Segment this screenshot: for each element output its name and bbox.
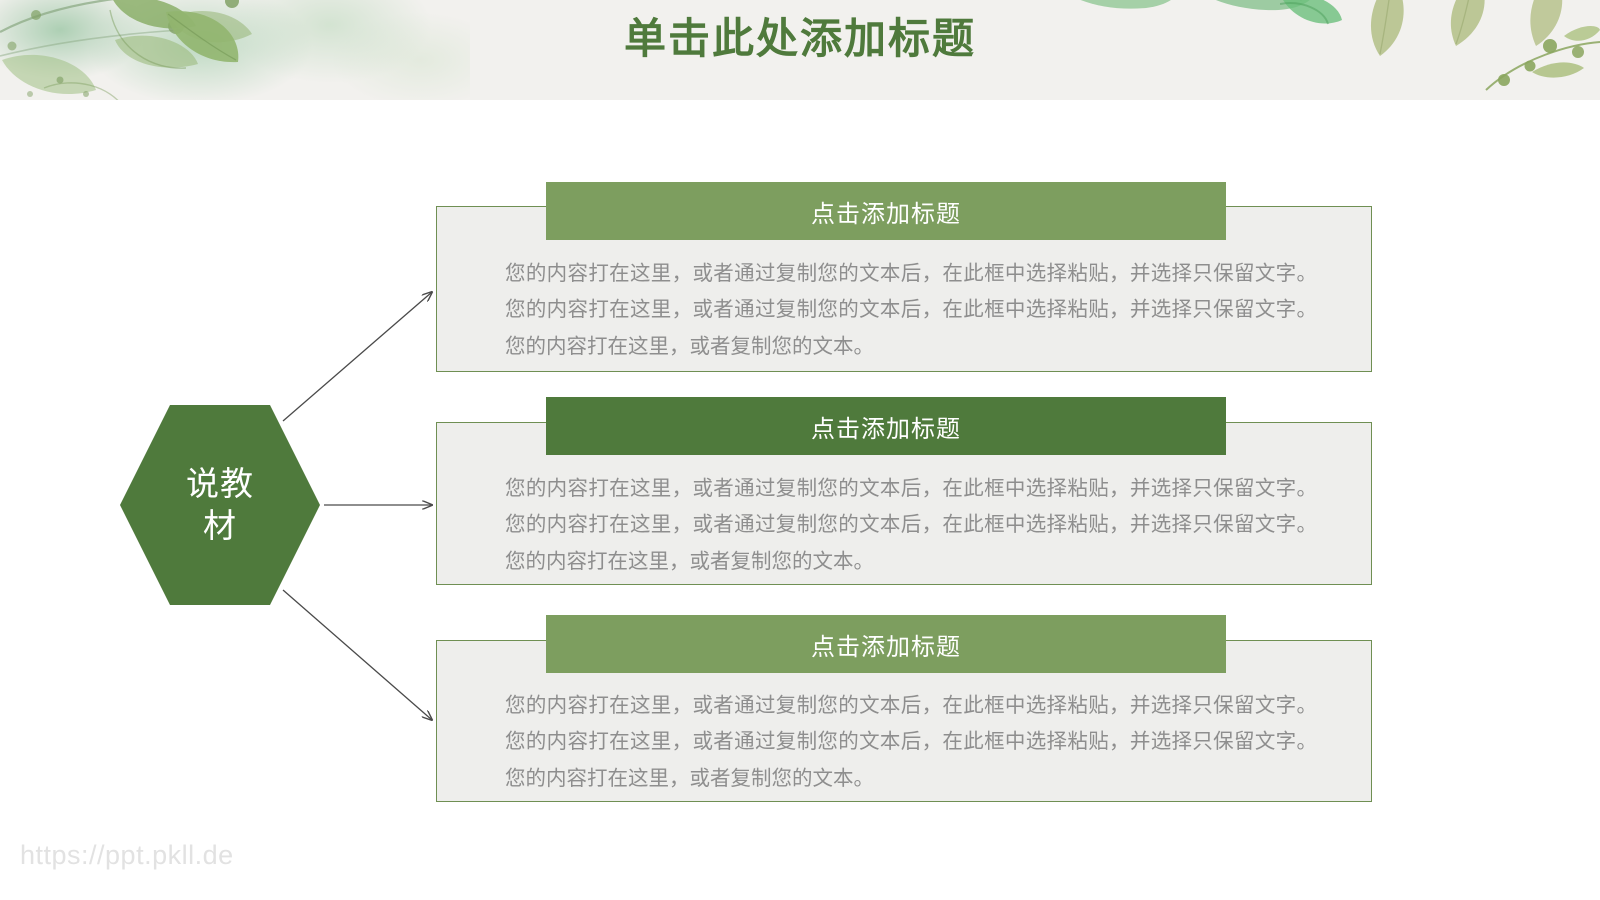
card-body-2: 您的内容打在这里，或者通过复制您的文本后，在此框中选择粘贴，并选择只保留文字。您… xyxy=(505,471,1317,580)
card-header-label-2: 点击添加标题 xyxy=(811,409,961,444)
card-header-3[interactable]: 点击添加标题 xyxy=(546,615,1226,673)
watermark: https://ppt.pkll.de xyxy=(20,840,234,871)
card-header-2[interactable]: 点击添加标题 xyxy=(546,397,1226,455)
connector-arrow-1 xyxy=(283,292,432,421)
card-header-1[interactable]: 点击添加标题 xyxy=(546,182,1226,240)
card-header-label-1: 点击添加标题 xyxy=(811,194,961,229)
card-body-3: 您的内容打在这里，或者通过复制您的文本后，在此框中选择粘贴，并选择只保留文字。您… xyxy=(505,688,1317,797)
hexagon-node[interactable]: 说教材 xyxy=(120,405,320,605)
card-body-1: 您的内容打在这里，或者通过复制您的文本后，在此框中选择粘贴，并选择只保留文字。您… xyxy=(505,256,1317,365)
connector-arrow-3 xyxy=(283,590,432,720)
hexagon-label: 说教材 xyxy=(177,463,263,547)
card-header-label-3: 点击添加标题 xyxy=(811,627,961,662)
page-title: 单击此处添加标题 xyxy=(0,18,1600,60)
